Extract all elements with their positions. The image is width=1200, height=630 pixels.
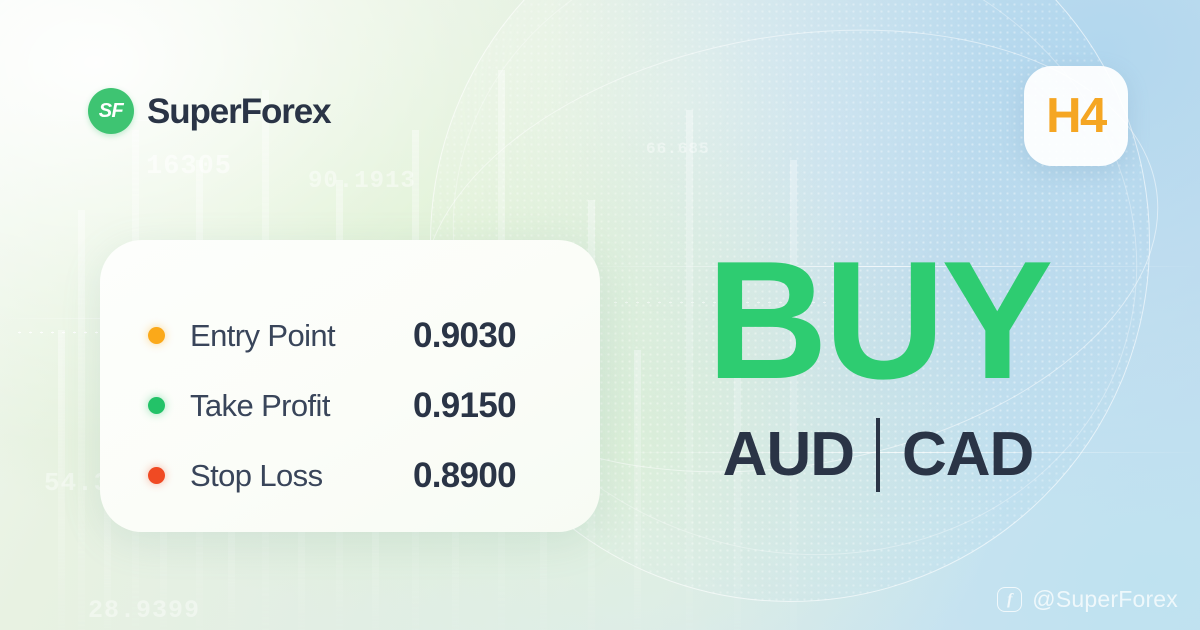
- facebook-icon: f: [997, 587, 1022, 612]
- level-row-stop-loss: Stop Loss 0.8900: [148, 440, 600, 510]
- quote-currency: CAD: [902, 424, 1033, 486]
- take-profit-dot-icon: [148, 397, 165, 414]
- social-watermark: f @SuperForex: [997, 587, 1178, 612]
- signal-card-canvas: 16305 90.1913 54.3855 28.9399 66.685 SF …: [0, 0, 1200, 630]
- entry-point-label: Entry Point: [190, 320, 413, 351]
- signal-action: BUY: [678, 252, 1078, 390]
- level-row-take-profit: Take Profit 0.9150: [148, 370, 600, 440]
- ghost-number: 16305: [146, 152, 232, 182]
- timeframe-badge: H4: [1024, 66, 1128, 166]
- brand-name: SuperForex: [147, 94, 331, 129]
- logo-monogram: SF: [99, 101, 124, 121]
- superforex-logo-icon: SF: [88, 88, 134, 134]
- entry-point-dot-icon: [148, 327, 165, 344]
- social-handle: @SuperForex: [1032, 588, 1178, 611]
- stop-loss-value: 0.8900: [413, 458, 516, 493]
- ghost-number: 66.685: [646, 140, 710, 158]
- stop-loss-dot-icon: [148, 467, 165, 484]
- entry-point-value: 0.9030: [413, 318, 516, 353]
- stop-loss-label: Stop Loss: [190, 460, 413, 491]
- timeframe-label: H4: [1046, 92, 1106, 141]
- trade-levels-card: Entry Point 0.9030 Take Profit 0.9150 St…: [100, 240, 600, 532]
- level-row-entry-point: Entry Point 0.9030: [148, 300, 600, 370]
- brand-logo[interactable]: SF SuperForex: [88, 88, 331, 134]
- base-currency: AUD: [723, 424, 854, 486]
- currency-pair: AUD CAD: [678, 418, 1078, 492]
- ghost-number: 28.9399: [88, 596, 200, 625]
- take-profit-label: Take Profit: [190, 390, 413, 421]
- pair-separator-icon: [876, 418, 880, 492]
- signal-block: BUY AUD CAD: [678, 252, 1078, 492]
- take-profit-value: 0.9150: [413, 388, 516, 423]
- ghost-number: 90.1913: [308, 168, 416, 195]
